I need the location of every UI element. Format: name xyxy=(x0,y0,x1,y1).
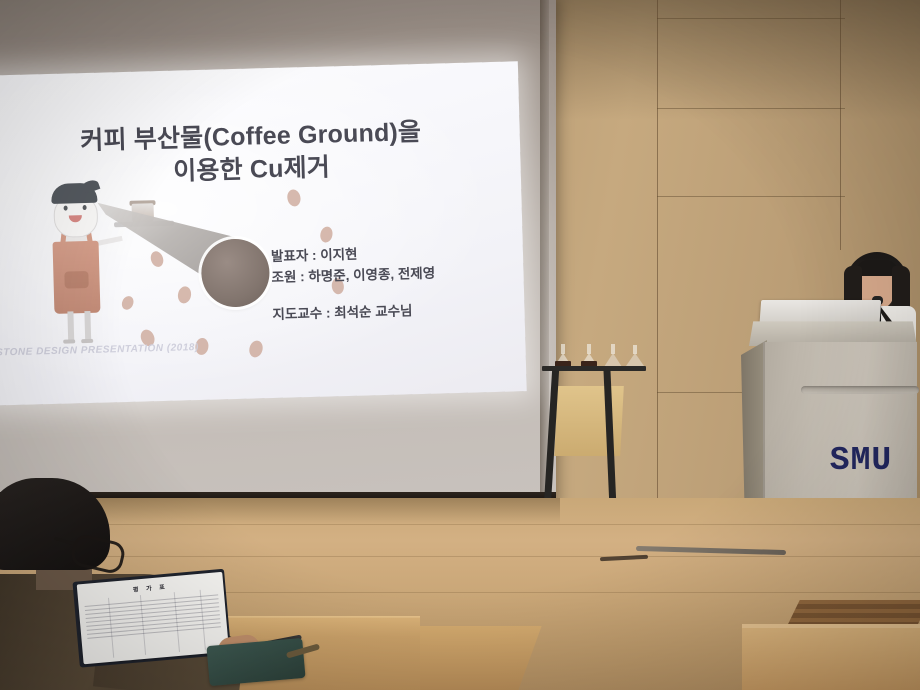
barista-eye-left xyxy=(64,206,68,211)
barista-leg-right xyxy=(84,311,91,341)
notebook-case xyxy=(206,638,305,686)
presentation-room-photo: 커피 부산물(Coffee Ground)을 이용한 Cu제거 xyxy=(0,0,920,690)
barista-foot-right xyxy=(81,339,93,343)
barista-foot-left xyxy=(63,339,75,343)
table-bottom-right xyxy=(742,628,920,690)
apron-pocket xyxy=(64,271,88,289)
wall-seam-horizontal-3 xyxy=(657,196,845,197)
barista-eye-right xyxy=(83,205,87,210)
wall-seam-horizontal-1 xyxy=(657,18,845,19)
podium-slot-groove xyxy=(801,386,919,394)
wall-seam-horizontal-2 xyxy=(657,108,845,109)
wall-seam-vertical-2 xyxy=(840,0,841,250)
projected-slide: 커피 부산물(Coffee Ground)을 이용한 Cu제거 xyxy=(0,61,527,406)
barista-leg-left xyxy=(67,311,74,341)
slide-title: 커피 부산물(Coffee Ground)을 이용한 Cu제거 xyxy=(15,114,487,192)
smu-logo: SMU xyxy=(805,442,917,479)
slide-info-block: 발표자 : 이지현 조원 : 하명준, 이영종, 전제영 지도교수 : 최석순 … xyxy=(271,240,505,325)
